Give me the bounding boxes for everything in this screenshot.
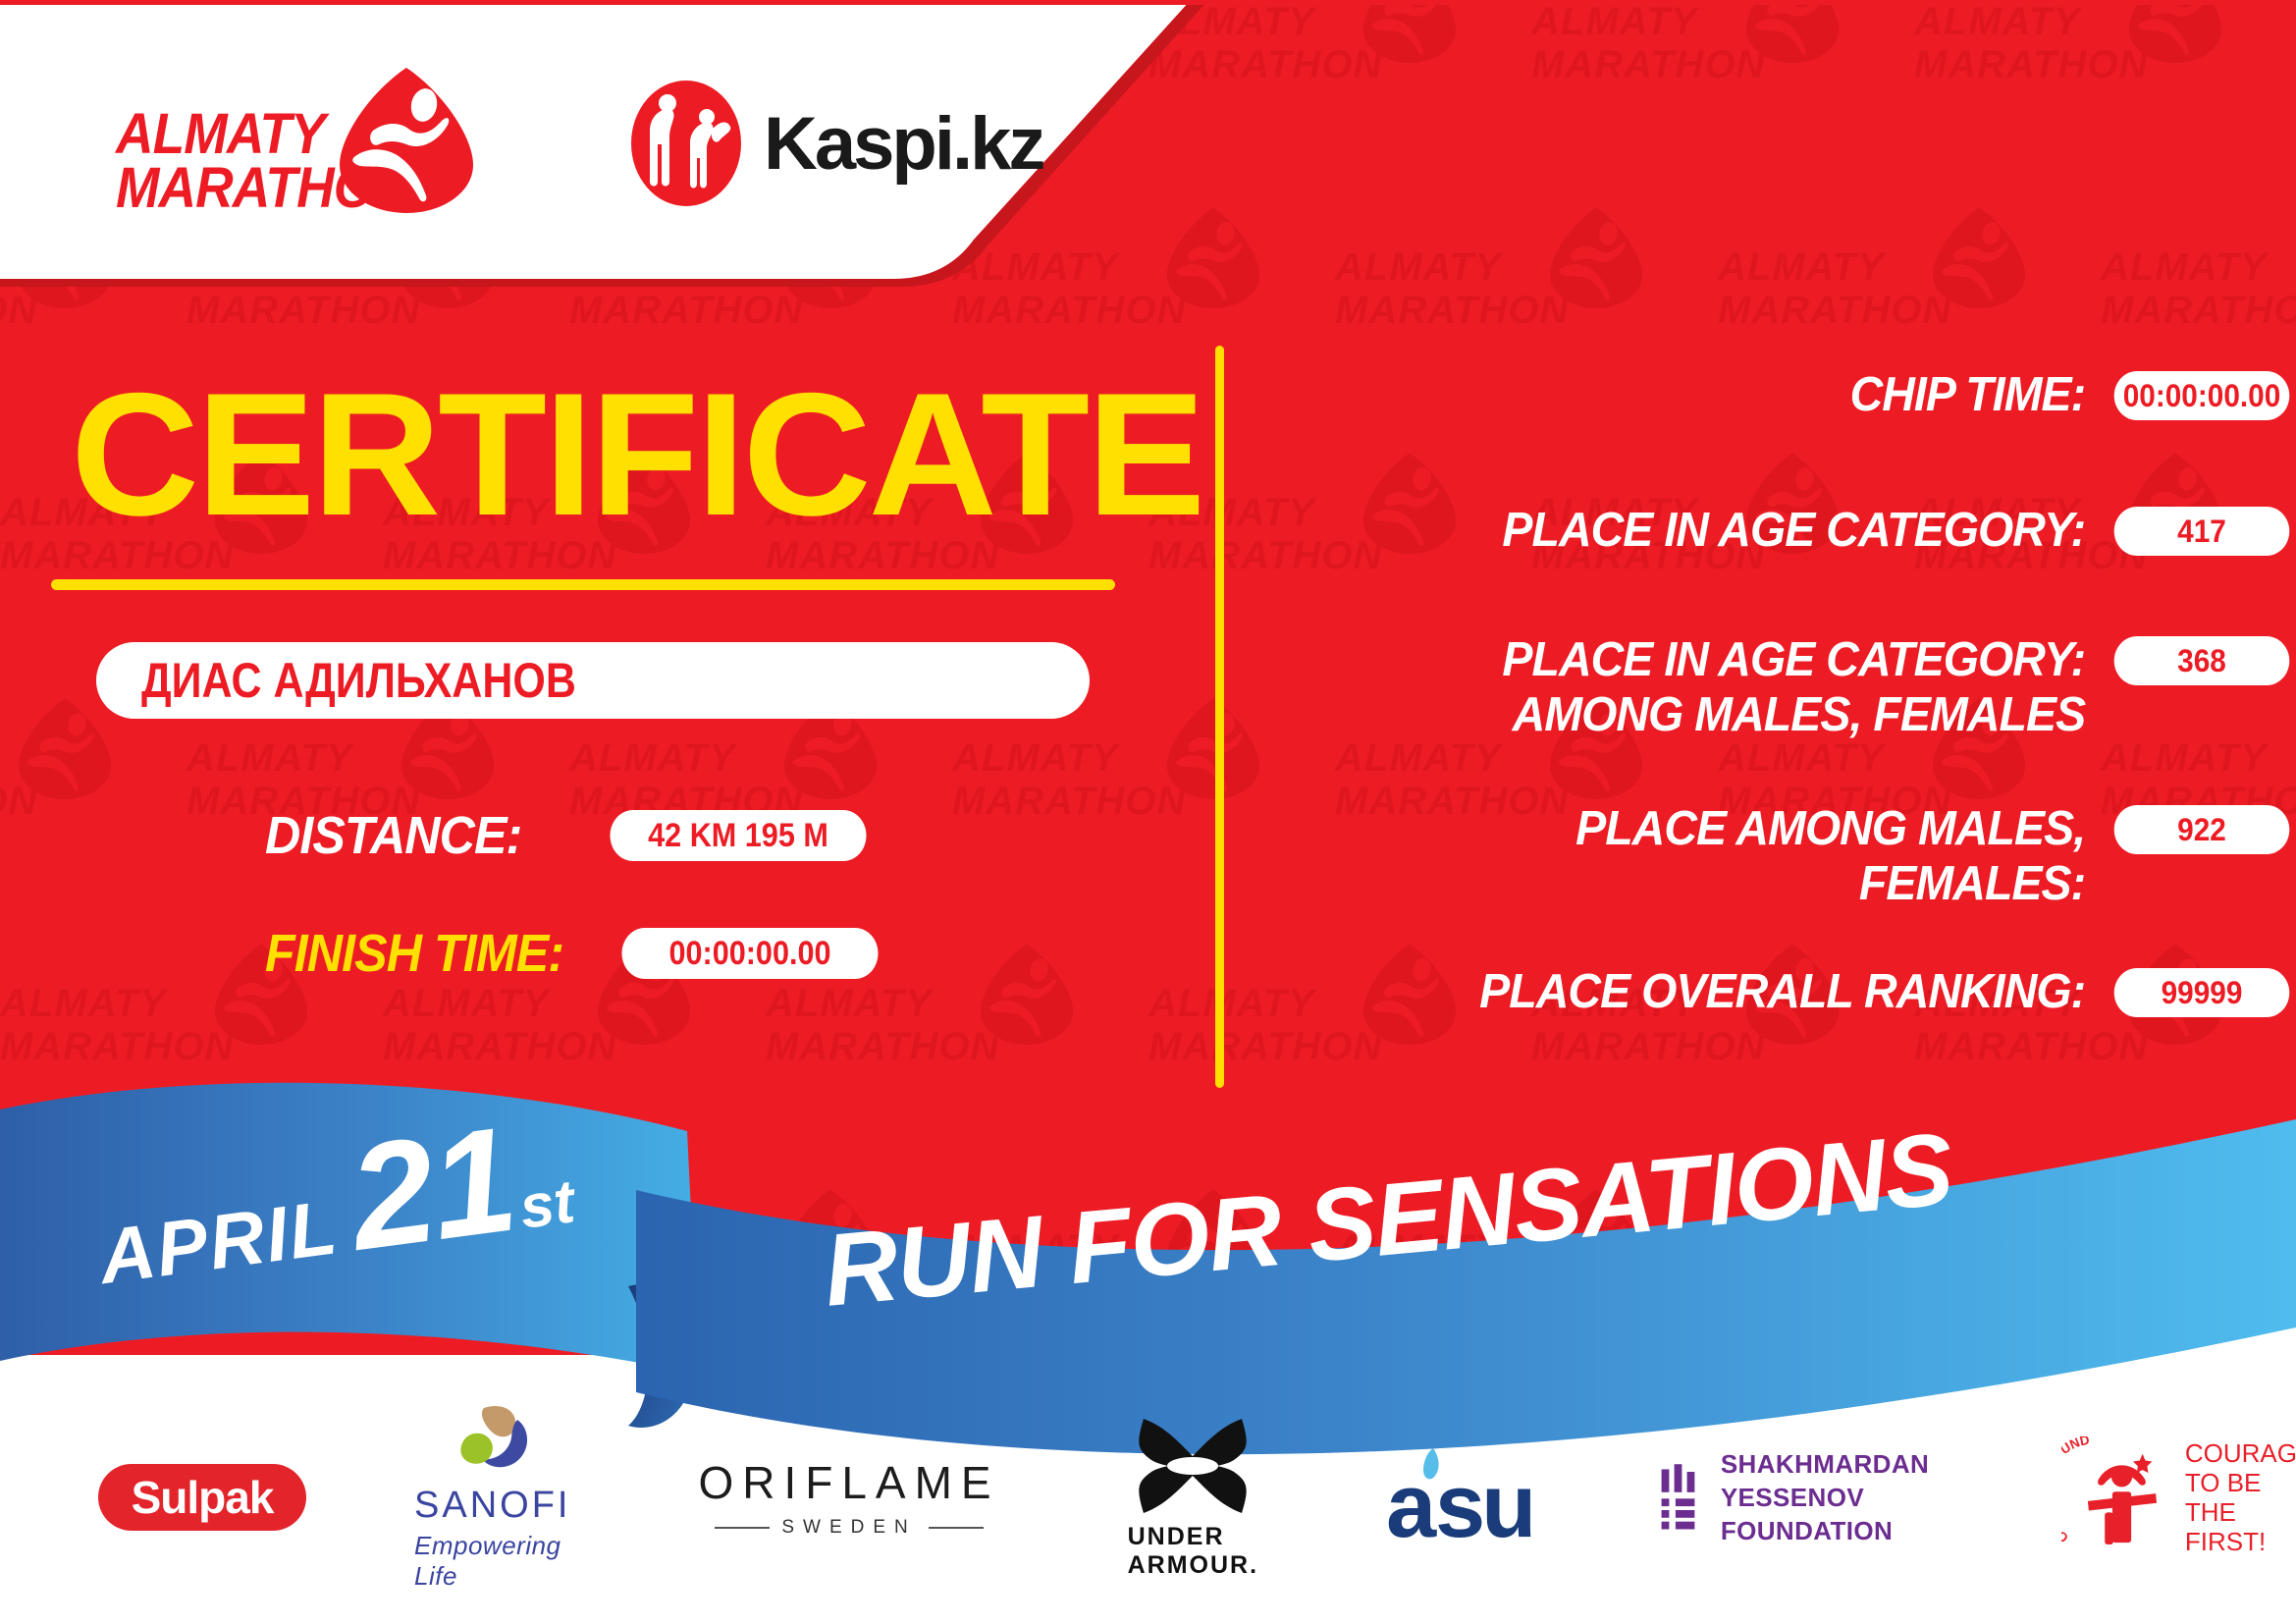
corporate-fund-runner-icon: CORPORATE FUND	[2061, 1436, 2172, 1558]
kaspi-logo-text: Kaspi.kz	[764, 101, 1042, 187]
certificate-page: ALMATY MARATHONALMATY MARATHONALMATY MAR…	[0, 0, 2296, 1624]
stat-row: PLACE IN AGE CATEGORY: AMONG MALES, FEMA…	[1276, 632, 2296, 742]
event-month: APRIL	[94, 1182, 344, 1302]
sponsor-yessenov: SHAKHMARDAN YESSENOV FOUNDATION	[1659, 1446, 1953, 1548]
finish-time-label: FINISH TIME:	[265, 923, 563, 984]
stat-label: CHIP TIME:	[1317, 367, 2108, 422]
participant-name-field: ДИАС АДИЛЬХАНОВ	[96, 642, 1090, 719]
sponsor-courage-fund: CORPORATE FUND COURAGE TO BE THE FIRST!	[2061, 1436, 2296, 1558]
stat-label: PLACE IN AGE CATEGORY:	[1317, 503, 2108, 558]
yessenov-logo-text: SHAKHMARDAN YESSENOV FOUNDATION	[1721, 1447, 1954, 1547]
oriflame-rule-right	[929, 1527, 984, 1529]
sanofi-tagline: Empowering Life	[414, 1531, 570, 1592]
page-title: CERTIFICATE	[71, 367, 1202, 542]
stat-row: PLACE OVERALL RANKING: 99999	[1276, 964, 2296, 1019]
courage-logo-text: COURAGE TO BE THE FIRST!	[2185, 1438, 2296, 1556]
stat-value: 417	[2114, 507, 2290, 556]
participant-name-value: ДИАС АДИЛЬХАНОВ	[141, 652, 576, 709]
finish-time-row: FINISH TIME: 00:00:00.00	[265, 923, 892, 984]
stat-value: 368	[2114, 636, 2290, 685]
title-divider	[51, 579, 1115, 590]
watermark-tile: ALMATY MARATHON	[1718, 245, 2012, 383]
watermark-tile: ALMATY MARATHON	[1335, 245, 1629, 383]
runner-teardrop-icon	[1932, 206, 2026, 308]
stat-value: 922	[2114, 805, 2290, 854]
runner-teardrop-icon	[340, 66, 473, 213]
runner-teardrop-icon	[980, 943, 1074, 1045]
svg-text:a: a	[1386, 1456, 1437, 1552]
kaspi-people-icon	[622, 80, 750, 207]
runner-teardrop-icon	[1362, 0, 1457, 63]
distance-row: DISTANCE: 42 KM 195 M	[265, 805, 881, 866]
runner-teardrop-icon	[2128, 0, 2222, 63]
kaspi-logo: Kaspi.kz	[622, 80, 1042, 207]
sponsor-strip: Sulpak SANOFI Empowering Life ORIFLAME S…	[0, 1404, 2296, 1591]
corporate-fund-arc-text: CORPORATE FUND	[2061, 1436, 2091, 1545]
stat-value: 99999	[2114, 968, 2290, 1017]
watermark-tile: ALMATY MARATHON	[2101, 245, 2296, 383]
top-accent-line	[0, 0, 2296, 5]
stat-row: PLACE IN AGE CATEGORY: 417	[1276, 503, 2296, 558]
stat-label: PLACE AMONG MALES, FEMALES:	[1317, 801, 2108, 911]
sulpak-logo: Sulpak	[98, 1464, 306, 1531]
runner-teardrop-icon	[1745, 0, 1840, 63]
sanofi-logo-text: SANOFI	[414, 1485, 570, 1527]
event-day-ordinal: st	[515, 1166, 578, 1243]
sponsor-oriflame: ORIFLAME SWEDEN	[698, 1456, 999, 1539]
svg-text:su: su	[1435, 1456, 1532, 1552]
yessenov-mark-icon	[1659, 1446, 1705, 1548]
watermark-tile: ALMATY MARATHON	[952, 736, 1247, 874]
header-logos: ALMATY MARATHON Kaspi.kz	[0, 0, 1276, 287]
event-day: 21	[341, 1094, 524, 1285]
stat-row: PLACE AMONG MALES, FEMALES: 922	[1276, 801, 2296, 911]
column-divider	[1215, 346, 1224, 1088]
asu-logo-icon: a su	[1386, 1442, 1541, 1552]
watermark-tile: ALMATY MARATHON	[1914, 0, 2209, 137]
watermark-tile: ALMATY MARATHON	[0, 736, 98, 874]
stat-label: PLACE OVERALL RANKING:	[1317, 964, 2108, 1019]
runner-teardrop-icon	[18, 697, 112, 799]
under-armour-icon	[1130, 1415, 1255, 1517]
oriflame-logo-text: ORIFLAME	[698, 1456, 999, 1509]
sponsor-sulpak: Sulpak	[98, 1464, 306, 1531]
oriflame-rule-left	[715, 1527, 770, 1529]
almaty-marathon-logo: ALMATY MARATHON	[116, 60, 450, 227]
svg-text:CORPORATE FUND: CORPORATE FUND	[2061, 1436, 2091, 1545]
stat-label: PLACE IN AGE CATEGORY: AMONG MALES, FEMA…	[1317, 632, 2108, 742]
sponsor-under-armour: UNDER ARMOUR.	[1128, 1415, 1258, 1580]
stat-value: 00:00:00.00	[2114, 371, 2290, 420]
runner-teardrop-icon	[1549, 206, 1643, 308]
sponsor-asu: a su	[1386, 1442, 1541, 1552]
distance-label: DISTANCE:	[265, 805, 521, 866]
sanofi-bird-icon	[445, 1404, 541, 1481]
stat-row: CHIP TIME: 00:00:00.00	[1276, 367, 2296, 422]
runner-teardrop-icon	[1166, 697, 1260, 799]
oriflame-tagline: SWEDEN	[781, 1517, 916, 1539]
finish-time-value: 00:00:00.00	[621, 928, 878, 979]
distance-value: 42 KM 195 M	[611, 810, 867, 861]
oriflame-sub: SWEDEN	[715, 1517, 983, 1539]
watermark-tile: ALMATY MARATHON	[1531, 0, 1826, 137]
under-armour-logo-text: UNDER ARMOUR.	[1128, 1523, 1258, 1580]
sponsor-sanofi: SANOFI Empowering Life	[414, 1404, 570, 1592]
sulpak-logo-text: Sulpak	[132, 1471, 274, 1524]
